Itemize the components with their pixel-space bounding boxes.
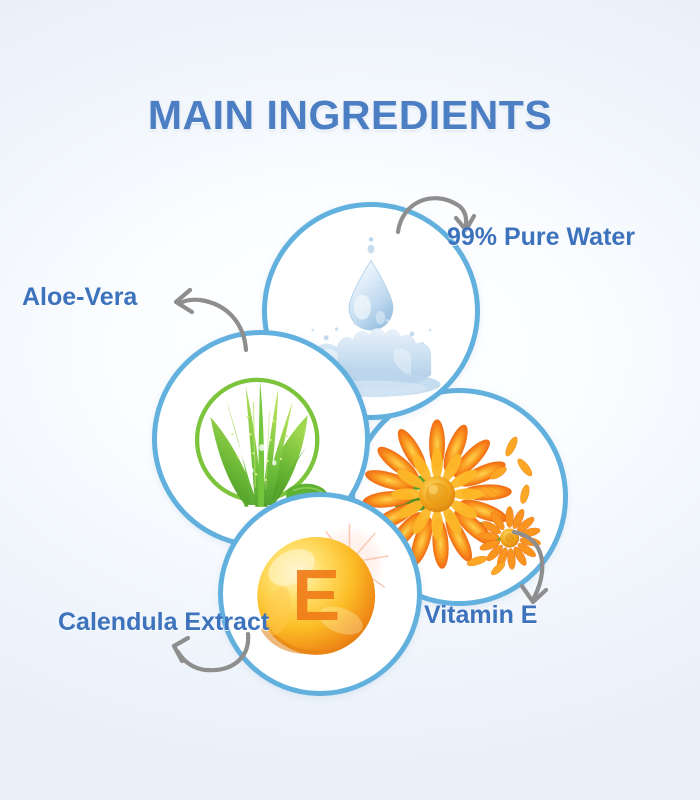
ingredients-infographic: MAIN INGREDIENTS — [0, 0, 700, 800]
ingredient-label-calendula: Vitamin E — [424, 601, 537, 630]
ingredient-label-aloe: Aloe-Vera — [22, 283, 137, 312]
ingredient-label-water: 99% Pure Water — [447, 223, 635, 252]
ingredient-label-vitamin: Calendula Extract — [58, 608, 269, 637]
svg-text:E: E — [292, 556, 340, 636]
page-title: MAIN INGREDIENTS — [0, 92, 700, 139]
ingredient-circle-vitamin[interactable]: E — [218, 492, 422, 696]
vitamin-e-capsule-icon: E — [223, 497, 417, 691]
